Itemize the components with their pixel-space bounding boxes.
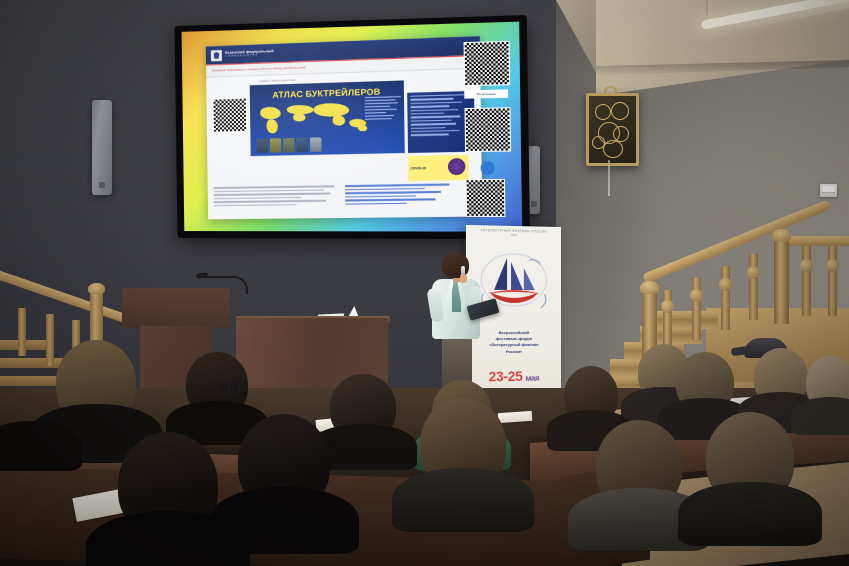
attendee-right-blonde bbox=[754, 348, 808, 406]
atlas-poster: АТЛАС БУКТРЕЙЛЕРОВ bbox=[250, 80, 405, 156]
attendee-center-back bbox=[564, 366, 618, 424]
world-map-icon bbox=[256, 100, 381, 136]
kfu-logo-icon bbox=[211, 49, 222, 60]
podium-top bbox=[122, 288, 230, 328]
site-org-line2: УНИВЕРСИТЕТ bbox=[225, 53, 274, 58]
attendee-row2-left bbox=[330, 374, 396, 440]
qr-caption-1: Регистрация bbox=[464, 89, 508, 98]
presentation-slide: Казанский федеральный УНИВЕРСИТЕТ Вниман… bbox=[206, 36, 483, 219]
qr-code-icon-1[interactable] bbox=[464, 41, 511, 86]
wall-light-switch[interactable] bbox=[820, 184, 837, 197]
qr-code-icon-left[interactable] bbox=[212, 98, 247, 133]
attendee-edge-left bbox=[0, 366, 62, 438]
poster-caption-lines bbox=[365, 96, 401, 122]
light-stem bbox=[706, 0, 708, 16]
attendee-blonde-foreground bbox=[420, 398, 506, 490]
presenter-hand bbox=[460, 274, 467, 283]
newel-post-right bbox=[774, 240, 789, 324]
attendee-cap-man bbox=[676, 352, 734, 412]
eyeglasses-icon bbox=[218, 382, 240, 391]
slide-body-text bbox=[214, 183, 476, 208]
social-icons bbox=[465, 161, 509, 175]
screen-surface: Казанский федеральный УНИВЕРСИТЕТ Вниман… bbox=[182, 22, 523, 232]
lecture-hall-photo: Казанский федеральный УНИВЕРСИТЕТ Вниман… bbox=[0, 0, 849, 566]
wall-mounted-flat-screen[interactable]: Казанский федеральный УНИВЕРСИТЕТ Вниман… bbox=[175, 15, 531, 239]
covid-label: COVID-19 bbox=[408, 166, 426, 170]
attendee-front-left bbox=[56, 340, 136, 424]
attendee-far-right bbox=[806, 356, 849, 410]
qr-code-rail: Регистрация bbox=[464, 41, 515, 227]
qr-code-icon-2[interactable] bbox=[464, 107, 511, 152]
virus-icon bbox=[448, 158, 466, 175]
site-alert-text: Внимание! Информация о режиме работы в п… bbox=[212, 66, 305, 72]
wall-speaker-left bbox=[92, 100, 112, 195]
plaque-stem bbox=[608, 160, 610, 196]
attendee-back-right bbox=[706, 412, 794, 504]
attendee-dark-hair-center bbox=[238, 414, 330, 510]
vk-icon[interactable] bbox=[480, 161, 494, 175]
book-cover-thumbnails bbox=[257, 137, 322, 153]
attendee-mid-right bbox=[596, 420, 682, 510]
presenter bbox=[424, 252, 488, 392]
attendee-foreground-left bbox=[118, 432, 218, 536]
ornamental-gold-plaque bbox=[586, 93, 639, 166]
covid-badge: COVID-19 bbox=[408, 155, 469, 181]
qr-code-icon-3[interactable] bbox=[466, 179, 506, 217]
